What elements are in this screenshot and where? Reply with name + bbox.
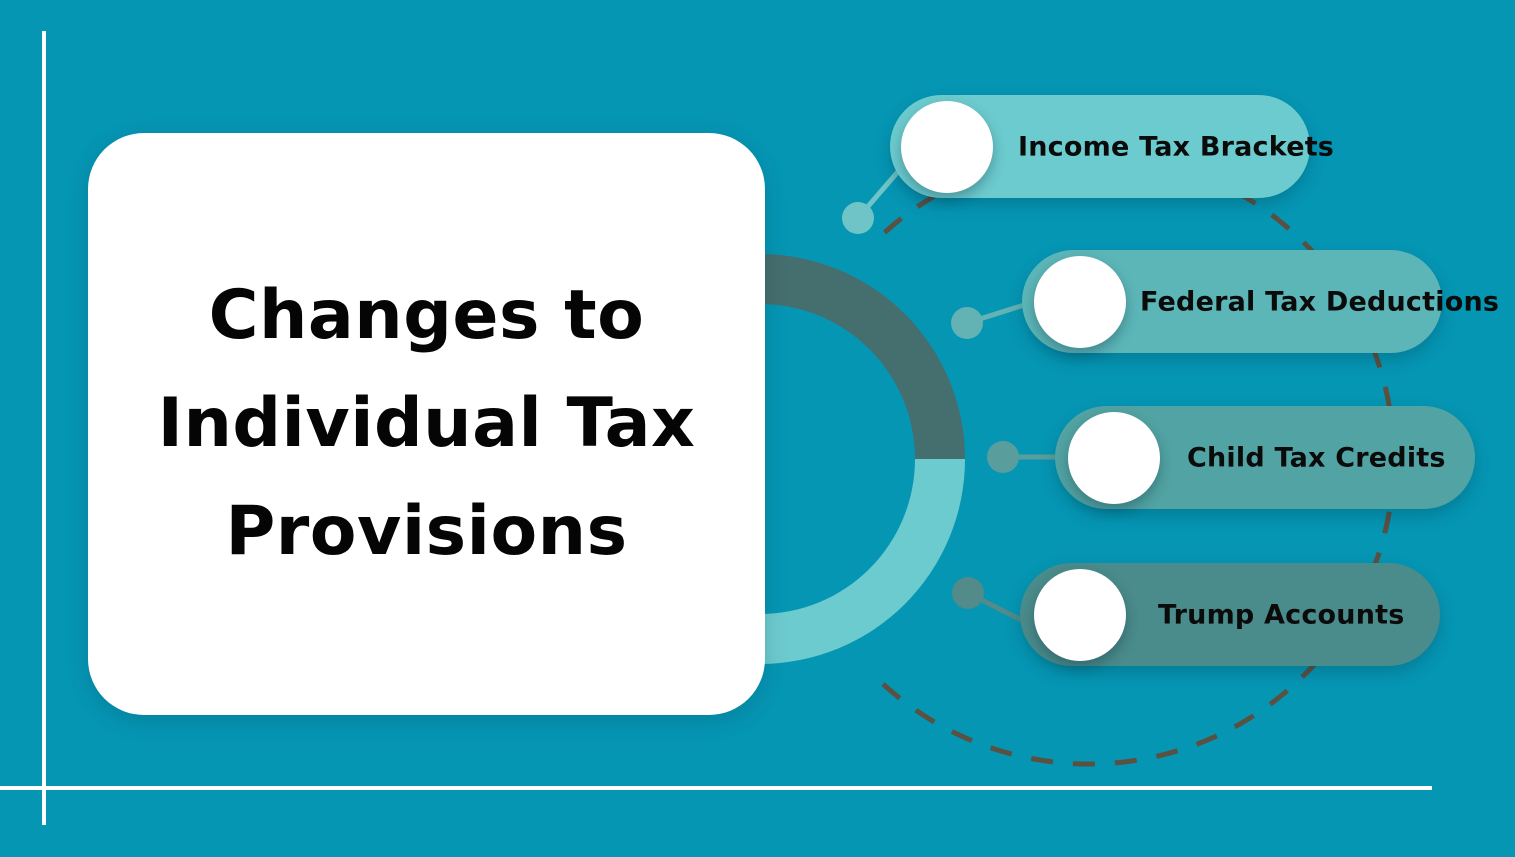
- connector-dot-2: [951, 307, 983, 339]
- item-bullet-4: [1034, 569, 1126, 661]
- item-label-1: Income Tax Brackets: [1018, 131, 1334, 162]
- donut-lower-segment-right: [760, 459, 965, 664]
- title-line-2: Individual Tax: [158, 390, 696, 458]
- item-label-4: Trump Accounts: [1158, 599, 1405, 630]
- title-card: Changes to Individual Tax Provisions: [88, 133, 765, 715]
- connector-dot-1: [842, 202, 874, 234]
- slide-canvas: Income Tax Brackets Federal Tax Deductio…: [0, 0, 1515, 857]
- item-bullet-2: [1034, 256, 1126, 348]
- item-label-2: Federal Tax Deductions: [1140, 286, 1499, 317]
- title-line-3: Provisions: [225, 498, 627, 566]
- item-label-3: Child Tax Credits: [1187, 442, 1446, 473]
- donut-upper-segment-right: [760, 254, 965, 459]
- connector-dot-3: [987, 441, 1019, 473]
- title-line-1: Changes to: [209, 282, 645, 350]
- connector-dot-4: [952, 577, 984, 609]
- item-bullet-3: [1068, 412, 1160, 504]
- item-bullet-1: [901, 101, 993, 193]
